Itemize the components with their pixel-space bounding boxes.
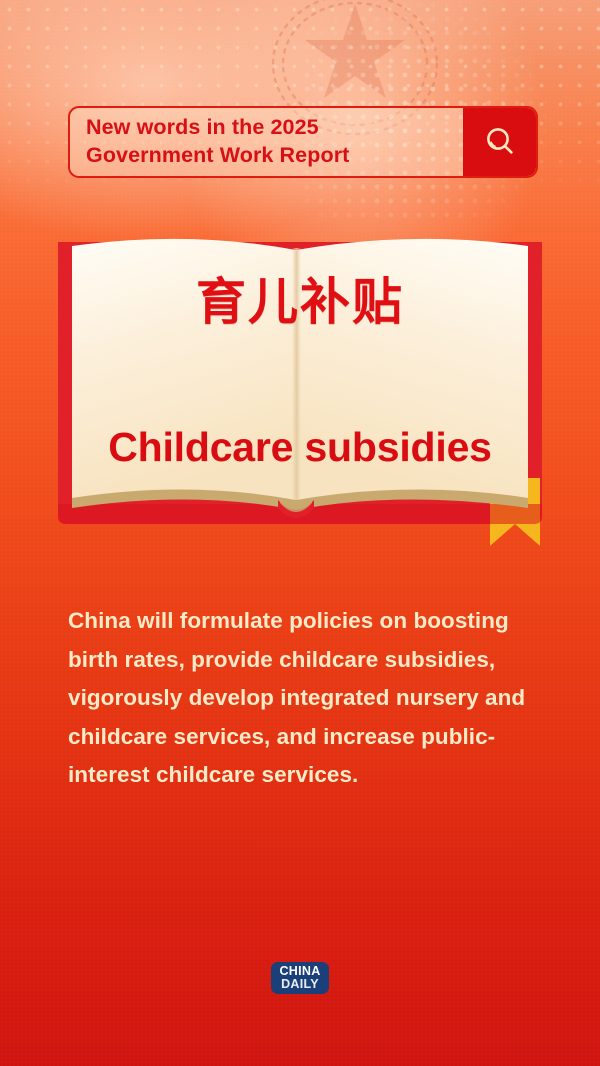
- body-paragraph: China will formulate policies on boostin…: [68, 602, 538, 795]
- search-icon: [482, 124, 518, 160]
- book-english-title: Childcare subsidies: [0, 424, 600, 471]
- page-title: New words in the 2025 Government Work Re…: [70, 108, 463, 176]
- logo-line-daily: DAILY: [281, 978, 319, 991]
- poster-canvas: New words in the 2025 Government Work Re…: [0, 0, 600, 1066]
- book-chinese-title: 育儿补贴: [0, 262, 600, 334]
- china-daily-logo: CHINA DAILY: [271, 962, 329, 994]
- header-banner: New words in the 2025 Government Work Re…: [68, 106, 538, 178]
- search-button[interactable]: [463, 108, 536, 176]
